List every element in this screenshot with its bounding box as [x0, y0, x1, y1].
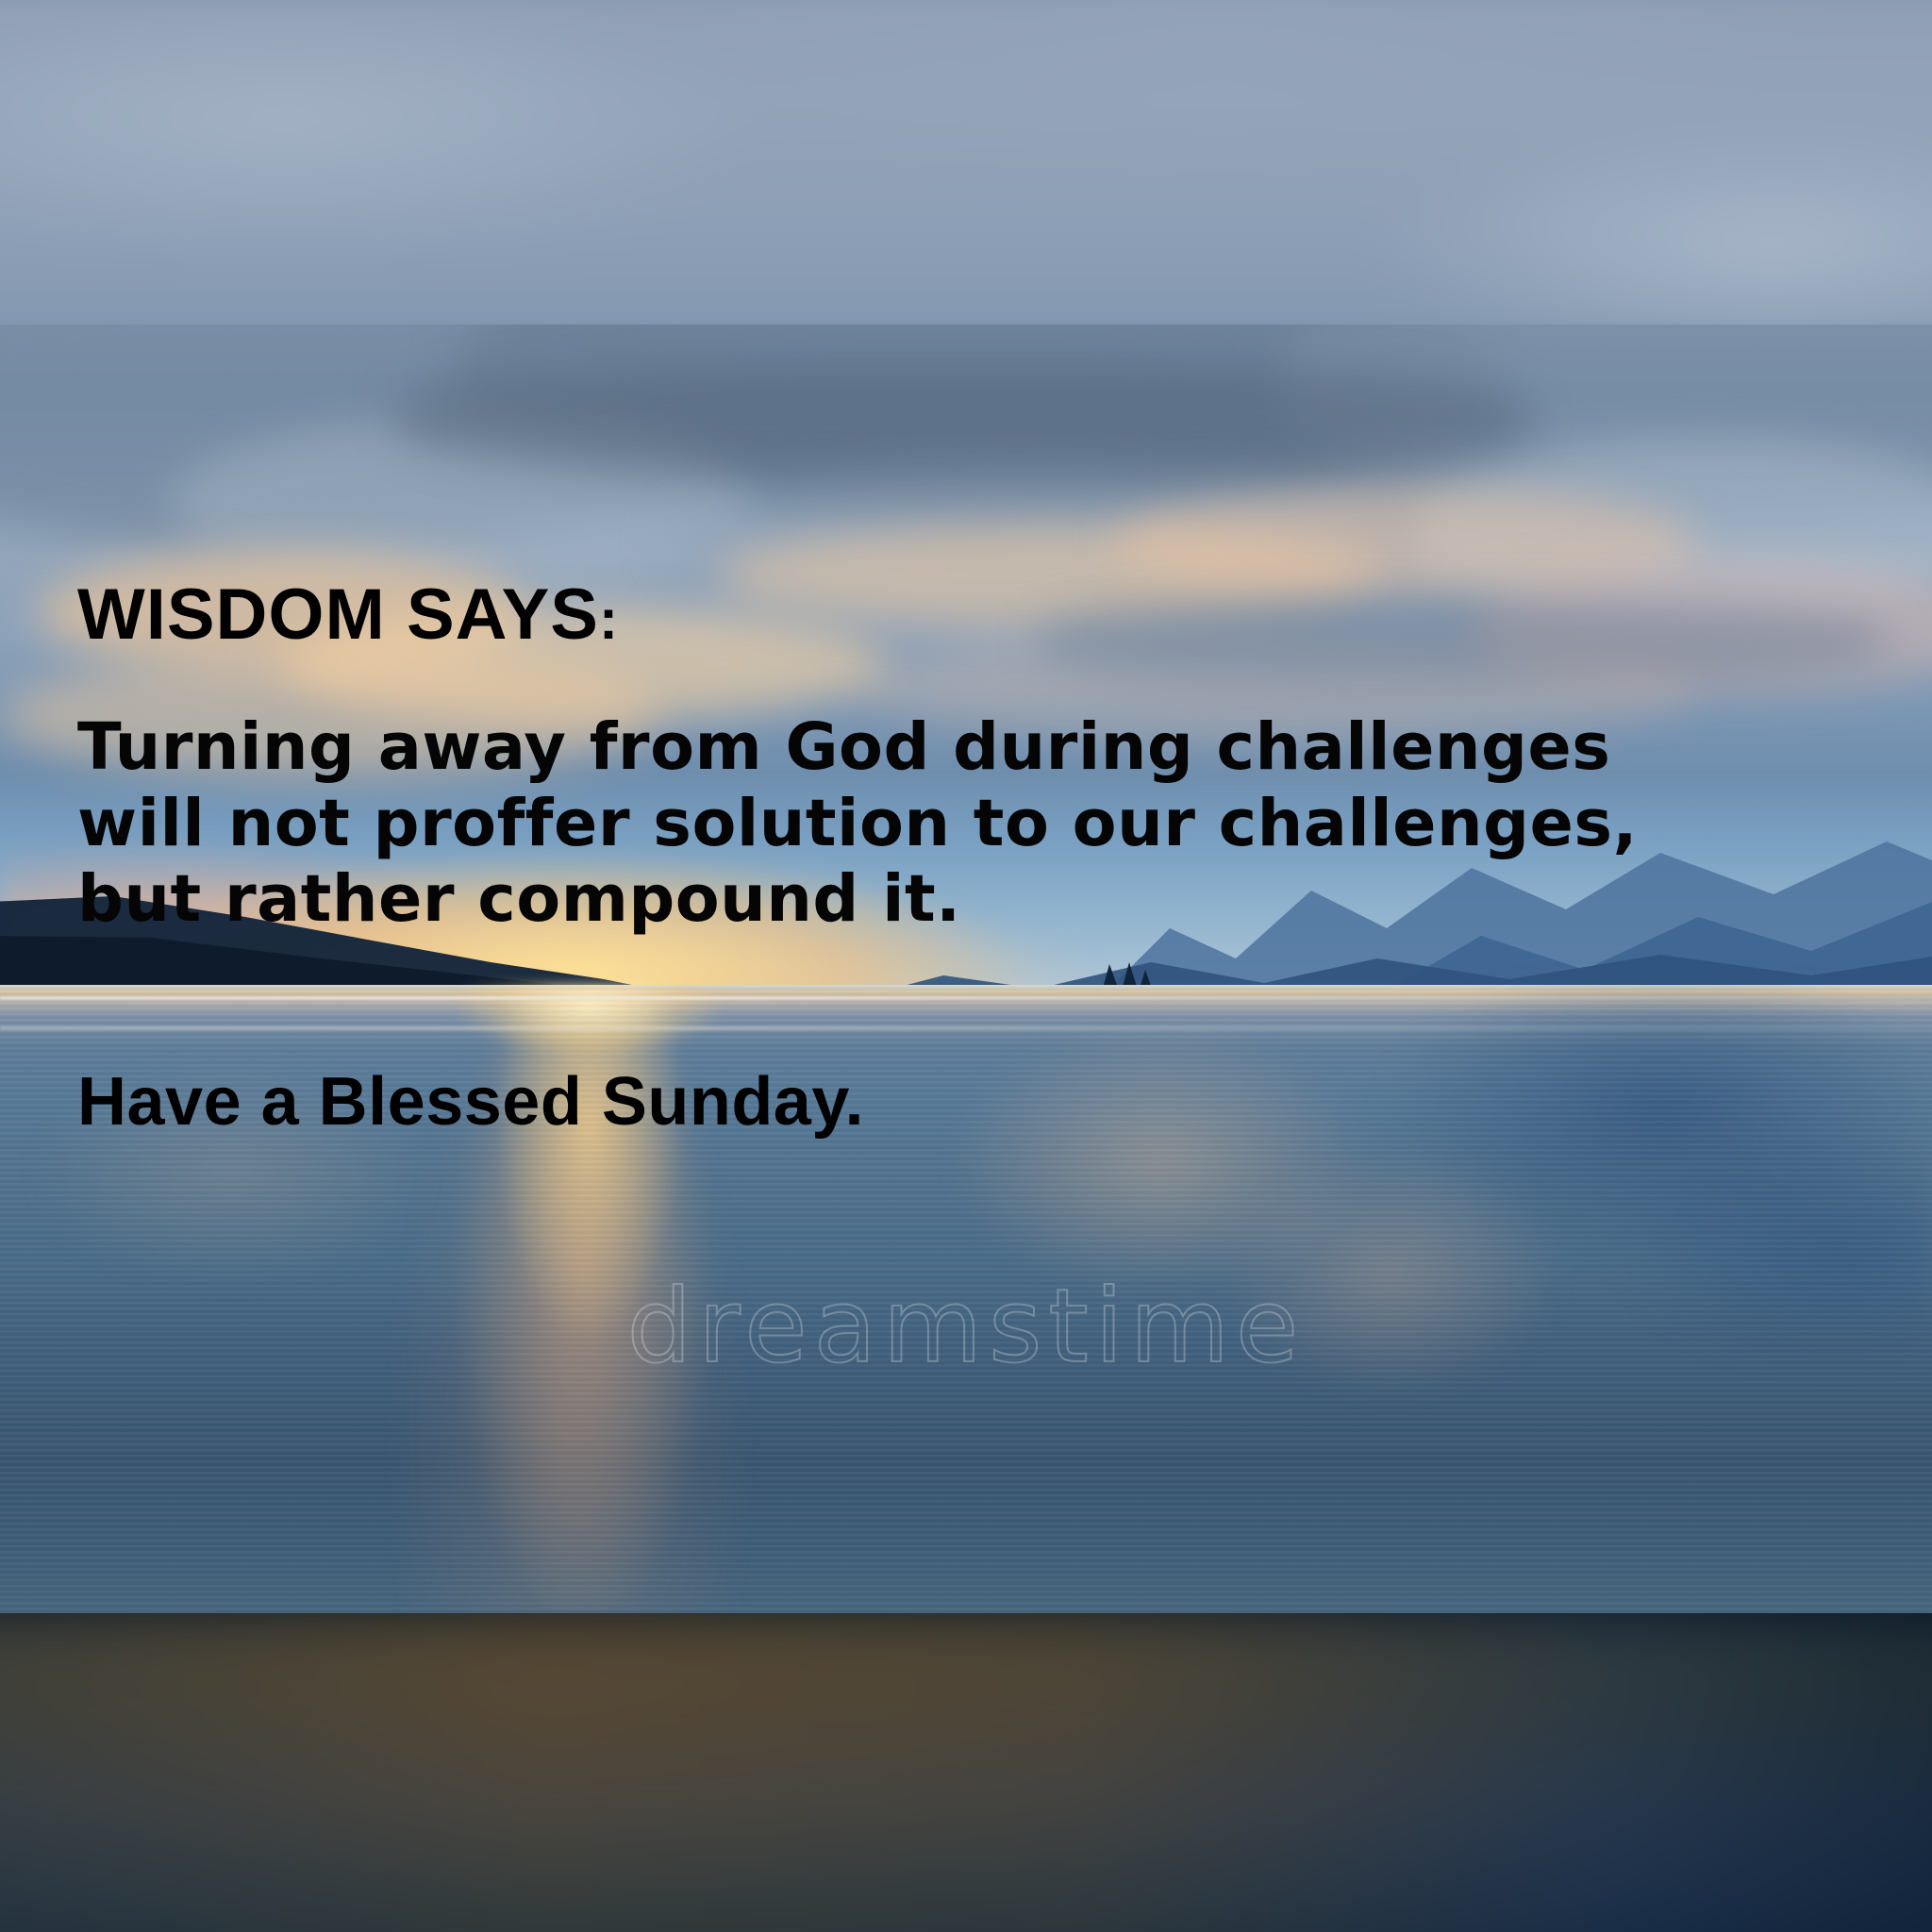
quote-body: Turning away from God during challenges …: [77, 709, 1932, 938]
heading-colon: :: [599, 588, 619, 651]
quote-line: Turning away from God during challenges: [77, 709, 1932, 786]
quote-text-layer: WISDOM SAYS: Turning away from God durin…: [0, 325, 1932, 1613]
letterbox-bottom-blur: [0, 1613, 1932, 1932]
heading-label: WISDOM SAYS: [77, 575, 599, 655]
quote-line: but rather compound it.: [77, 861, 1932, 938]
letterbox-bottom: [0, 1613, 1932, 1932]
letterbox-top-blur: [0, 0, 1932, 325]
quote-poster: dreamstime WISDOM SAYS: Turning away fro…: [0, 0, 1932, 1932]
quote-line: will not proffer solution to our challen…: [77, 786, 1932, 862]
page-title: WISDOM SAYS:: [77, 579, 619, 651]
signoff-text: Have a Blessed Sunday.: [77, 1068, 864, 1136]
letterbox-top: [0, 0, 1932, 325]
